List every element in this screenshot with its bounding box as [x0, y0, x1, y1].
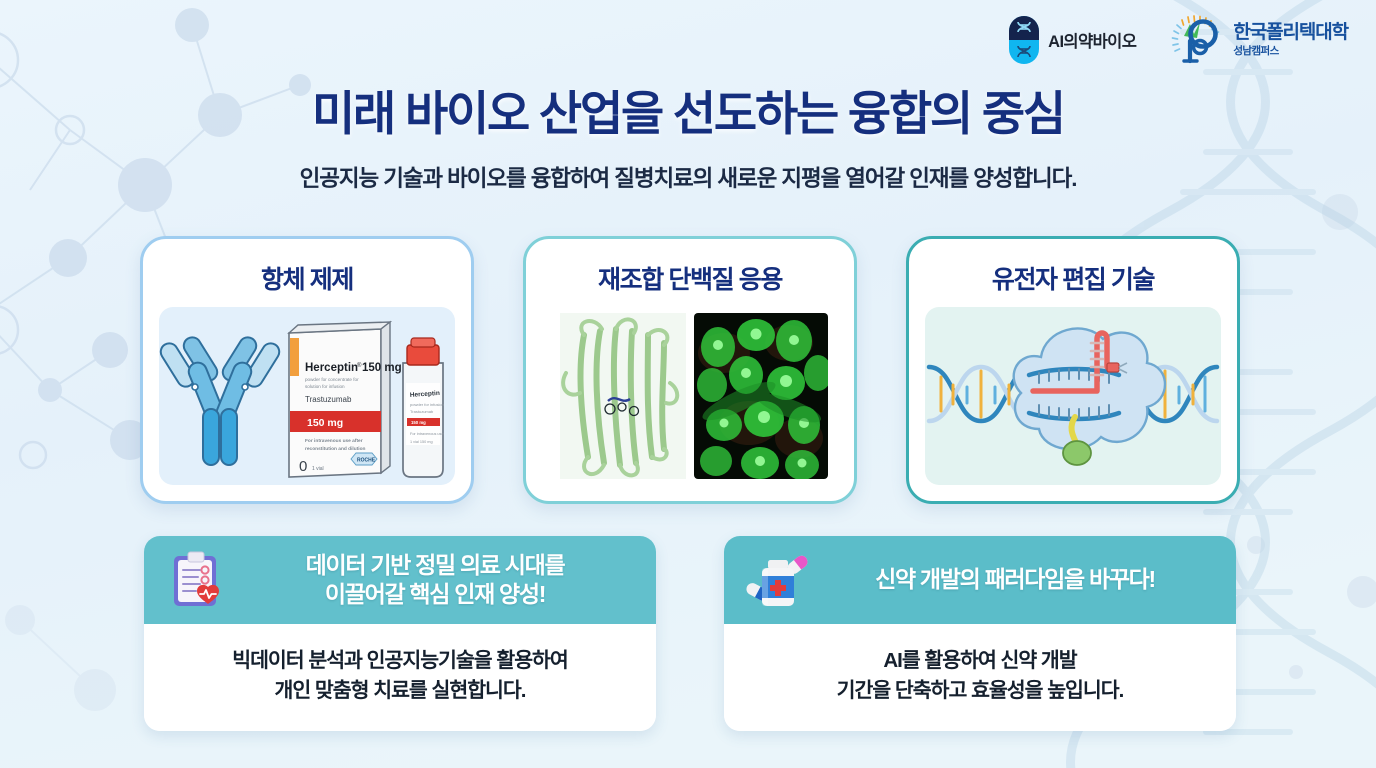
- svg-text:Trastuzumab: Trastuzumab: [305, 395, 352, 404]
- antibody-herceptin-vial-illustration: Herceptin ® 150 mg powder for concentrat…: [159, 307, 455, 485]
- svg-text:For intravenous use after: For intravenous use after: [305, 438, 363, 444]
- card-media: Herceptin ® 150 mg powder for concentrat…: [159, 307, 455, 485]
- card-antibody[interactable]: 항체 제제: [140, 236, 474, 504]
- infographic-page: AI의약바이오: [0, 0, 1376, 768]
- brand-label: AI의약바이오: [1048, 28, 1136, 52]
- info-panels: 데이터 기반 정밀 의료 시대를 이끌어갈 핵심 인재 양성! 빅데이터 분석과…: [144, 536, 1236, 731]
- university-logo[interactable]: 한국폴리텍대학 성남캠퍼스: [1170, 14, 1348, 66]
- gfp-barrel-and-fluorescence-micrograph: [542, 307, 838, 485]
- panel-body-line1: 빅데이터 분석과 인공지능기술을 활용하여: [160, 646, 640, 676]
- panel-header: 신약 개발의 패러다임을 바꾸다!: [724, 536, 1236, 624]
- svg-text:1 vial: 1 vial: [312, 466, 324, 472]
- panel-precision-medicine[interactable]: 데이터 기반 정밀 의료 시대를 이끌어갈 핵심 인재 양성! 빅데이터 분석과…: [144, 536, 656, 731]
- svg-text:Herceptin: Herceptin: [305, 362, 358, 374]
- svg-text:1 vial 150 mg: 1 vial 150 mg: [410, 440, 433, 444]
- panel-headline: 데이터 기반 정밀 의료 시대를 이끌어갈 핵심 인재 양성!: [242, 551, 638, 610]
- panel-headline-line1: 데이터 기반 정밀 의료 시대를: [242, 551, 628, 580]
- svg-text:150 mg: 150 mg: [411, 420, 426, 425]
- panel-body-line2: 개인 맞춤형 치료를 실현합니다.: [160, 676, 640, 706]
- card-media: [925, 307, 1221, 485]
- svg-text:0: 0: [299, 458, 307, 475]
- panel-drug-development[interactable]: 신약 개발의 패러다임을 바꾸다! AI를 활용하여 신약 개발 기간을 단축하…: [724, 536, 1236, 731]
- card-title: 재조합 단백질 응용: [598, 260, 782, 296]
- university-name: 한국폴리텍대학: [1233, 23, 1348, 42]
- card-gene-editing[interactable]: 유전자 편집 기술: [906, 236, 1240, 504]
- brand-logo[interactable]: AI의약바이오: [1009, 16, 1136, 64]
- panel-headline: 신약 개발의 패러다임을 바꾸다!: [822, 565, 1218, 594]
- hero-section: 미래 바이오 산업을 선도하는 융합의 중심 인공지능 기술과 바이오를 융합하…: [0, 88, 1376, 193]
- card-media: [542, 307, 838, 485]
- svg-text:Trastuzumab: Trastuzumab: [410, 409, 434, 414]
- university-campus: 성남캠퍼스: [1233, 46, 1348, 57]
- svg-text:150 mg: 150 mg: [362, 362, 402, 374]
- feature-cards: 항체 제제: [140, 236, 1240, 504]
- card-title: 유전자 편집 기술: [992, 260, 1154, 296]
- svg-text:ROCHE: ROCHE: [357, 458, 376, 464]
- panel-body: 빅데이터 분석과 인공지능기술을 활용하여 개인 맞춤형 치료를 실현합니다.: [144, 624, 656, 731]
- panel-body: AI를 활용하여 신약 개발 기간을 단축하고 효율성을 높입니다.: [724, 624, 1236, 731]
- svg-text:150 mg: 150 mg: [307, 417, 343, 429]
- svg-text:reconstitution and dilution: reconstitution and dilution: [305, 446, 366, 452]
- svg-text:powder for infusion: powder for infusion: [410, 402, 444, 407]
- panel-body-line2: 기간을 단축하고 효율성을 높입니다.: [740, 676, 1220, 706]
- logo-bar: AI의약바이오: [1009, 14, 1348, 66]
- page-subtitle: 인공지능 기술과 바이오를 융합하여 질병치료의 새로운 지평을 열어갈 인재를…: [0, 161, 1376, 193]
- svg-text:solution for infusion: solution for infusion: [305, 384, 345, 389]
- clipboard-heartbeat-icon: [166, 549, 228, 611]
- svg-text:For intravenous use: For intravenous use: [410, 432, 444, 436]
- panel-header: 데이터 기반 정밀 의료 시대를 이끌어갈 핵심 인재 양성!: [144, 536, 656, 624]
- card-title: 항체 제제: [261, 260, 353, 296]
- capsule-dna-icon: [1009, 16, 1039, 64]
- panel-headline-line1: 신약 개발의 패러다임을 바꾸다!: [822, 565, 1208, 594]
- card-recombinant-protein[interactable]: 재조합 단백질 응용: [523, 236, 857, 504]
- panel-headline-line2: 이끌어갈 핵심 인재 양성!: [242, 580, 628, 609]
- page-title: 미래 바이오 산업을 선도하는 융합의 중심: [0, 88, 1376, 141]
- polytech-torch-icon: [1170, 14, 1224, 66]
- crispr-cas9-dna-illustration: [925, 307, 1221, 485]
- panel-body-line1: AI를 활용하여 신약 개발: [740, 646, 1220, 676]
- svg-text:powder for concentrate for: powder for concentrate for: [305, 377, 359, 382]
- pill-bottle-capsules-icon: [746, 549, 808, 611]
